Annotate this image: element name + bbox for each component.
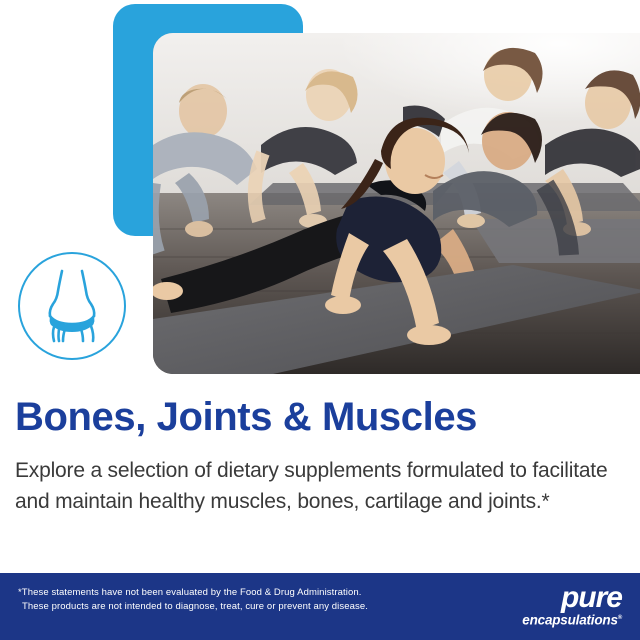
brand-name-encapsulations: encapsulations® <box>502 611 622 628</box>
disclaimer-line-1: *These statements have not been evaluate… <box>18 587 361 598</box>
footer-bar: *These statements have not been evaluate… <box>0 573 640 640</box>
hero-photo-illustration <box>153 33 640 374</box>
pure-encapsulations-logo[interactable]: pure encapsulations® <box>502 584 622 628</box>
knee-joint-icon <box>41 269 103 343</box>
hero-photo <box>153 33 640 374</box>
registered-mark: ® <box>618 615 622 621</box>
fda-disclaimer: *These statements have not been evaluate… <box>18 586 438 614</box>
knee-joint-icon-circle <box>18 252 126 360</box>
page-title: Bones, Joints & Muscles <box>15 394 477 440</box>
brand-name-pure: pure <box>502 584 622 611</box>
disclaimer-line-2: These products are not intended to diagn… <box>18 600 438 614</box>
category-banner: Bones, Joints & Muscles Explore a select… <box>0 0 640 640</box>
brand-sub-text: encapsulations <box>522 613 617 628</box>
category-description: Explore a selection of dietary supplemen… <box>15 455 615 517</box>
